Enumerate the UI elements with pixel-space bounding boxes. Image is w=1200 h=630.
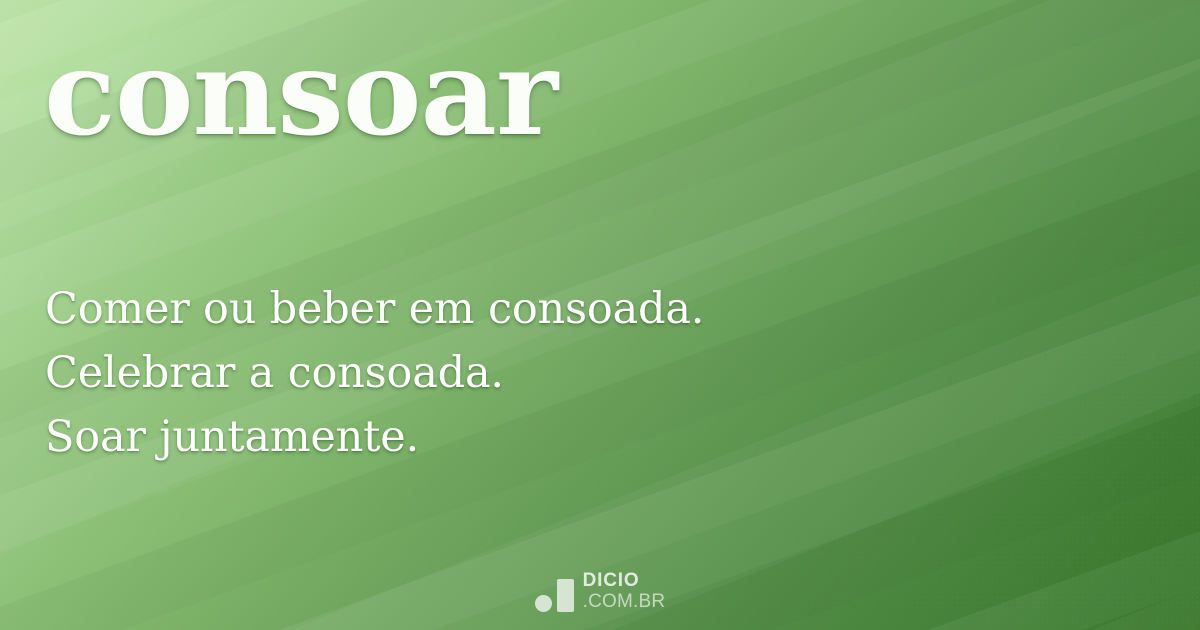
word-card: consoar Comer ou beber em consoada. Cele… (0, 0, 1200, 630)
site-logo[interactable]: DICIO .COM.BR (0, 571, 1200, 613)
definition-item: Soar juntamente. (45, 405, 1145, 469)
page-title: consoar (44, 34, 557, 152)
logo-bar-shape (557, 579, 574, 612)
card-content: consoar Comer ou beber em consoada. Cele… (0, 0, 1200, 630)
logo-circle-shape (535, 595, 552, 612)
logo-wordmark: DICIO .COM.BR (583, 571, 666, 613)
definition-item: Comer ou beber em consoada. (45, 277, 1145, 341)
dicio-circle-bar-icon (535, 579, 574, 613)
definition-item: Celebrar a consoada. (45, 341, 1145, 405)
logo-tld-text: .COM.BR (583, 592, 666, 612)
definition-list: Comer ou beber em consoada. Celebrar a c… (45, 277, 1145, 469)
logo-name-text: DICIO (583, 571, 666, 591)
